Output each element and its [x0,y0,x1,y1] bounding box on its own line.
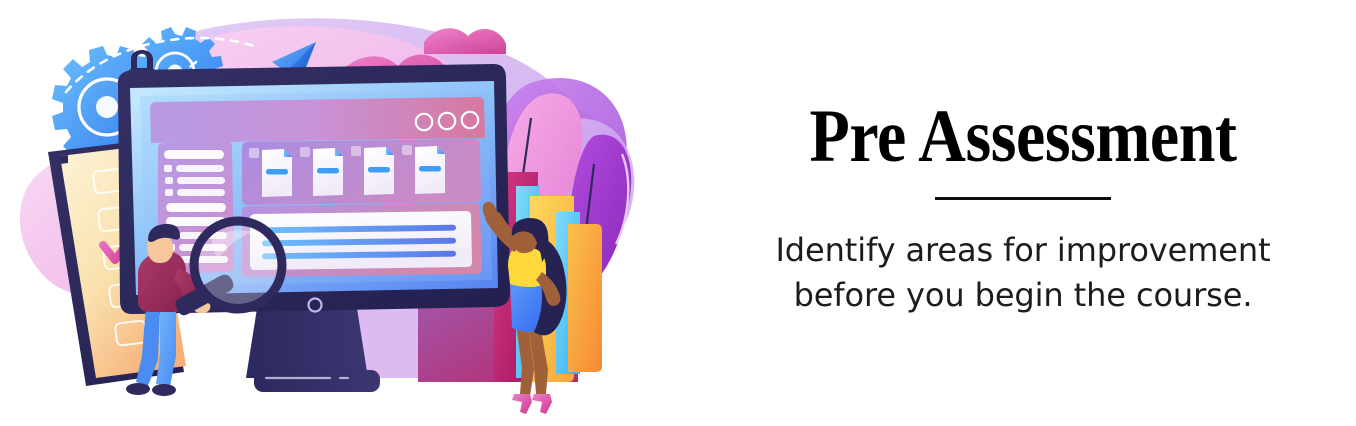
sidebar-bullet [165,189,173,196]
card-line [317,168,339,174]
man-shoe-back [126,383,150,395]
illustration-canvas [0,0,680,426]
subtitle-line-1: Identify areas for improvement [720,228,1326,273]
page-title: Pre Assessment [730,97,1316,177]
cloud-magenta-small [424,28,506,54]
card-line [419,166,441,172]
sidebar-row-header [166,203,226,212]
sidebar-row-line [177,177,225,184]
title-divider [935,197,1111,200]
sidebar-bullet [165,177,173,184]
monitor-stand-base [254,370,380,392]
woman-heel-front [532,394,552,414]
clipboard-clip [60,155,68,164]
folder-tab-orange [568,224,602,372]
sidebar-bullet [164,165,172,172]
sidebar-row-line [177,189,225,196]
man-shoe-front [152,384,176,396]
subtitle-line-2: before you begin the course. [720,273,1326,318]
pre-assessment-illustration [0,0,680,426]
window-header-bar [150,97,485,143]
page-subtitle: Identify areas for improvement before yo… [720,228,1326,318]
monitor-stand-neck [246,302,368,378]
sidebar-row-header [164,150,224,159]
pre-assessment-banner: Pre Assessment Identify areas for improv… [0,0,1356,426]
content-lines [262,225,456,260]
woman-heel-back [512,394,532,414]
card-line [266,169,288,175]
sidebar-row-line [176,165,224,172]
text-content-block: Pre Assessment Identify areas for improv… [690,0,1356,426]
card-line [368,167,390,173]
